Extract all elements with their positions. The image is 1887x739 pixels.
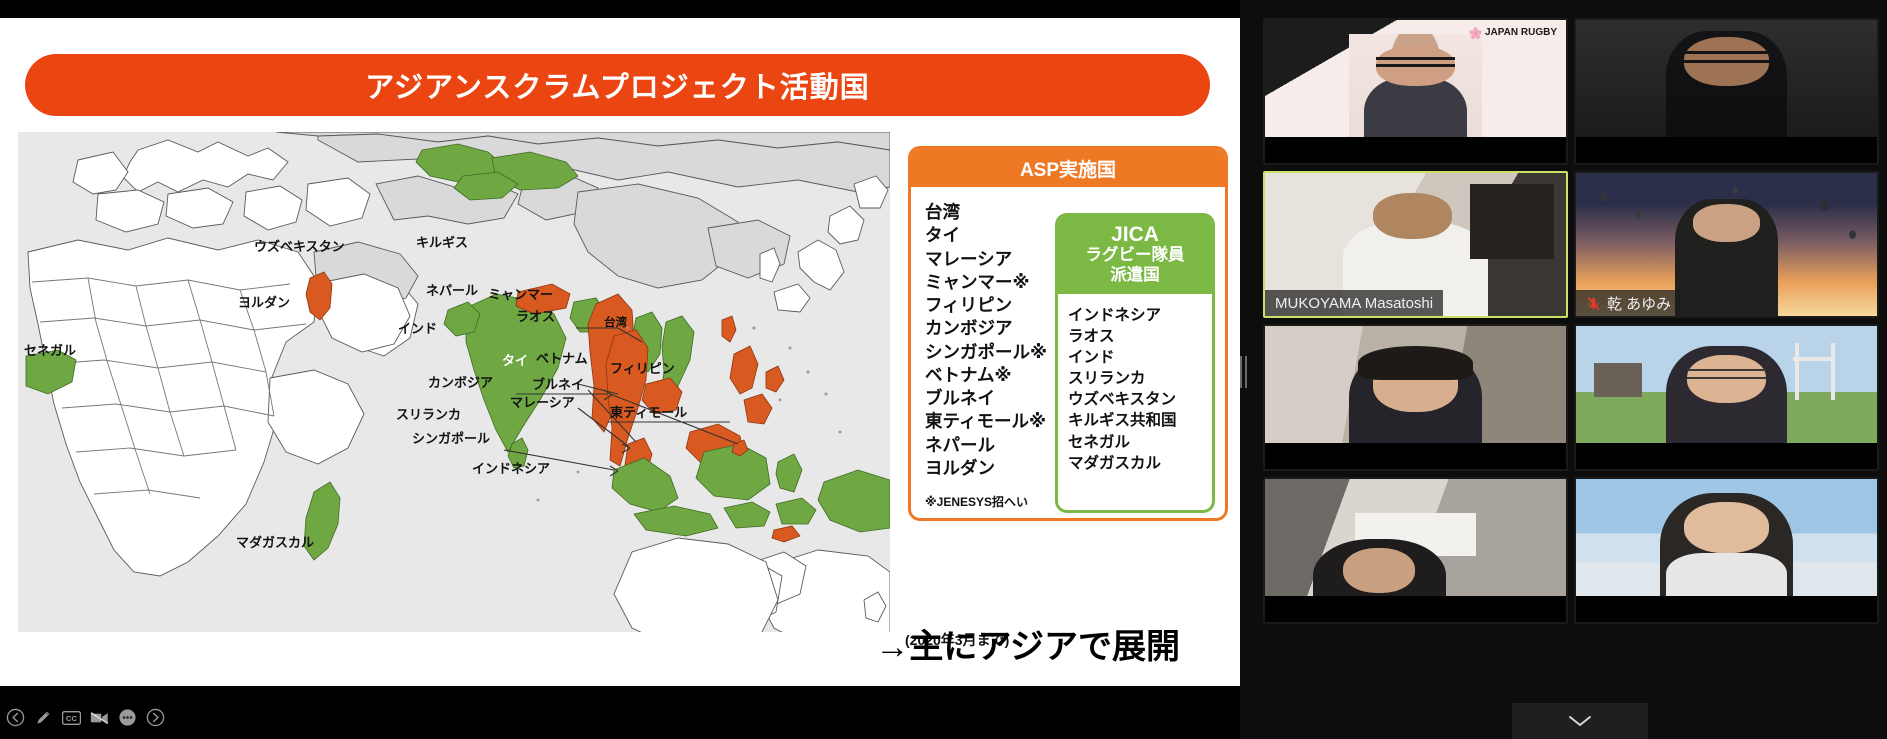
svg-text:CC: CC	[66, 714, 78, 723]
jica-country: ラオス	[1068, 326, 1212, 347]
map-label-singapore: シンガポール	[412, 432, 490, 445]
closed-caption-icon[interactable]: CC	[62, 708, 81, 727]
jica-title-line1: JICA	[1058, 223, 1212, 246]
jica-card: JICA ラグビー隊員 派遣国 インドネシア ラオス インド スリランカ ウズベ…	[1055, 213, 1215, 513]
jica-country: キルギス共和国	[1068, 410, 1212, 431]
map-label-srilanka: スリランカ	[396, 408, 461, 421]
participant-name-badge: 乾 あゆみ	[1576, 290, 1681, 316]
asp-country: ブルネイ	[925, 387, 1065, 410]
share-annotation-toolbar[interactable]: CC	[6, 708, 165, 727]
handle-line	[1245, 356, 1247, 388]
jica-country: インドネシア	[1068, 305, 1212, 326]
participant-tile[interactable]: JAPAN RUGBY	[1263, 18, 1568, 165]
jica-title-line2: ラグビー隊員	[1058, 246, 1212, 265]
legend-header: ASP実施国	[911, 149, 1225, 187]
asp-country: 台湾	[925, 201, 1065, 224]
map-label-easttimor: 東ティモール	[610, 406, 687, 419]
pane-resize-handle[interactable]	[1238, 355, 1248, 389]
handle-line	[1240, 356, 1242, 388]
participant-tile[interactable]	[1263, 477, 1568, 624]
slide-tagline: →主にアジアで展開	[875, 619, 1180, 668]
zoom-meeting-window: アジアンスクラムプロジェクト活動国 .land { fill:#fff; str…	[0, 0, 1887, 739]
asp-country: ミャンマー※	[925, 271, 1065, 294]
asp-country: ネパール	[925, 434, 1065, 457]
participant-tile-active-speaker[interactable]: MUKOYAMA Masatoshi	[1263, 171, 1568, 318]
map-label-thailand: タイ	[502, 354, 528, 367]
back-arrow-icon[interactable]	[6, 708, 25, 727]
asp-country: カンボジア	[925, 317, 1065, 340]
video-off-icon[interactable]	[90, 708, 109, 727]
participant-tile[interactable]	[1574, 324, 1879, 471]
legend-header-text: ASP実施国	[1020, 155, 1116, 182]
tile-bottom-bar	[1576, 596, 1877, 622]
asp-country: タイ	[925, 224, 1065, 247]
map-label-madagascar: マダガスカル	[236, 536, 314, 549]
asp-country: ベトナム※	[925, 364, 1065, 387]
legend-card: ASP実施国 台湾 タイ マレーシア ミャンマー※ フィリピン カンボジア シン…	[908, 146, 1228, 521]
asp-country: マレーシア	[925, 248, 1065, 271]
jica-country: セネガル	[1068, 432, 1212, 453]
asp-country: シンガポール※	[925, 341, 1065, 364]
jica-country: スリランカ	[1068, 368, 1212, 389]
participant-name: MUKOYAMA Masatoshi	[1275, 295, 1433, 312]
participant-name: 乾 あゆみ	[1607, 293, 1671, 314]
participant-name-badge: MUKOYAMA Masatoshi	[1265, 290, 1443, 316]
japan-rugby-logo: JAPAN RUGBY	[1469, 27, 1557, 40]
jica-country: ウズベキスタン	[1068, 389, 1212, 410]
shared-screen-region[interactable]: アジアンスクラムプロジェクト活動国 .land { fill:#fff; str…	[0, 0, 1240, 739]
map-label-nepal: ネパール	[426, 284, 478, 297]
collapse-toolbar-button[interactable]	[1512, 703, 1648, 739]
participant-tile[interactable]	[1574, 477, 1879, 624]
participant-tile[interactable]	[1574, 18, 1879, 165]
map-label-laos: ラオス	[516, 310, 555, 323]
asp-country: 東ティモール※	[925, 410, 1065, 433]
map-label-senegal: セネガル	[24, 344, 76, 357]
map-label-india: インド	[398, 322, 437, 335]
tile-bottom-bar	[1576, 443, 1877, 469]
tile-bottom-bar	[1265, 443, 1566, 469]
slide-title: アジアンスクラムプロジェクト活動国	[365, 64, 870, 106]
legend-footnote: ※JENESYS招へい	[925, 493, 1028, 510]
tile-bottom-bar	[1265, 137, 1566, 163]
pencil-icon[interactable]	[34, 708, 53, 727]
participant-tile[interactable]	[1263, 324, 1568, 471]
jica-country: インド	[1068, 347, 1212, 368]
sakura-icon	[1469, 27, 1482, 40]
japan-rugby-logo-text: JAPAN RUGBY	[1485, 28, 1557, 39]
chevron-down-icon	[1568, 714, 1592, 728]
asp-country: フィリピン	[925, 294, 1065, 317]
map-label-indonesia: インドネシア	[472, 462, 550, 475]
mic-muted-icon	[1586, 296, 1601, 311]
participant-gallery: JAPAN RUGBY	[1255, 0, 1887, 739]
map-label-philippines: フィリピン	[610, 362, 675, 375]
map-label-taiwan: 台湾	[604, 318, 627, 330]
jica-country: マダガスカル	[1068, 453, 1212, 474]
tile-bottom-bar	[1265, 596, 1566, 622]
jica-header: JICA ラグビー隊員 派遣国	[1058, 216, 1212, 294]
forward-arrow-icon[interactable]	[146, 708, 165, 727]
asp-country-list: 台湾 タイ マレーシア ミャンマー※ フィリピン カンボジア シンガポール※ ベ…	[925, 201, 1065, 480]
more-icon[interactable]	[118, 708, 137, 727]
map-label-malaysia: マレーシア	[510, 396, 575, 409]
jica-title-line3: 派遣国	[1058, 266, 1212, 285]
slide-title-banner: アジアンスクラムプロジェクト活動国	[25, 54, 1210, 116]
map-label-myanmar: ミャンマー	[488, 288, 553, 301]
world-map: .land { fill:#fff; stroke:#5a5a5a; strok…	[18, 132, 890, 632]
presentation-slide: アジアンスクラムプロジェクト活動国 .land { fill:#fff; str…	[0, 18, 1240, 686]
map-label-brunei: ブルネイ	[532, 378, 584, 391]
asp-country: ヨルダン	[925, 457, 1065, 480]
map-label-vietnam: ベトナム	[536, 352, 588, 365]
participant-tile[interactable]: 乾 あゆみ	[1574, 171, 1879, 318]
tile-bottom-bar	[1576, 137, 1877, 163]
map-label-jordan: ヨルダン	[238, 296, 290, 309]
map-label-uzbekistan: ウズベキスタン	[254, 240, 345, 253]
map-label-kyrgyz: キルギス	[416, 236, 468, 249]
jica-country-list: インドネシア ラオス インド スリランカ ウズベキスタン キルギス共和国 セネガ…	[1058, 294, 1212, 474]
map-label-cambodia: カンボジア	[428, 376, 493, 389]
